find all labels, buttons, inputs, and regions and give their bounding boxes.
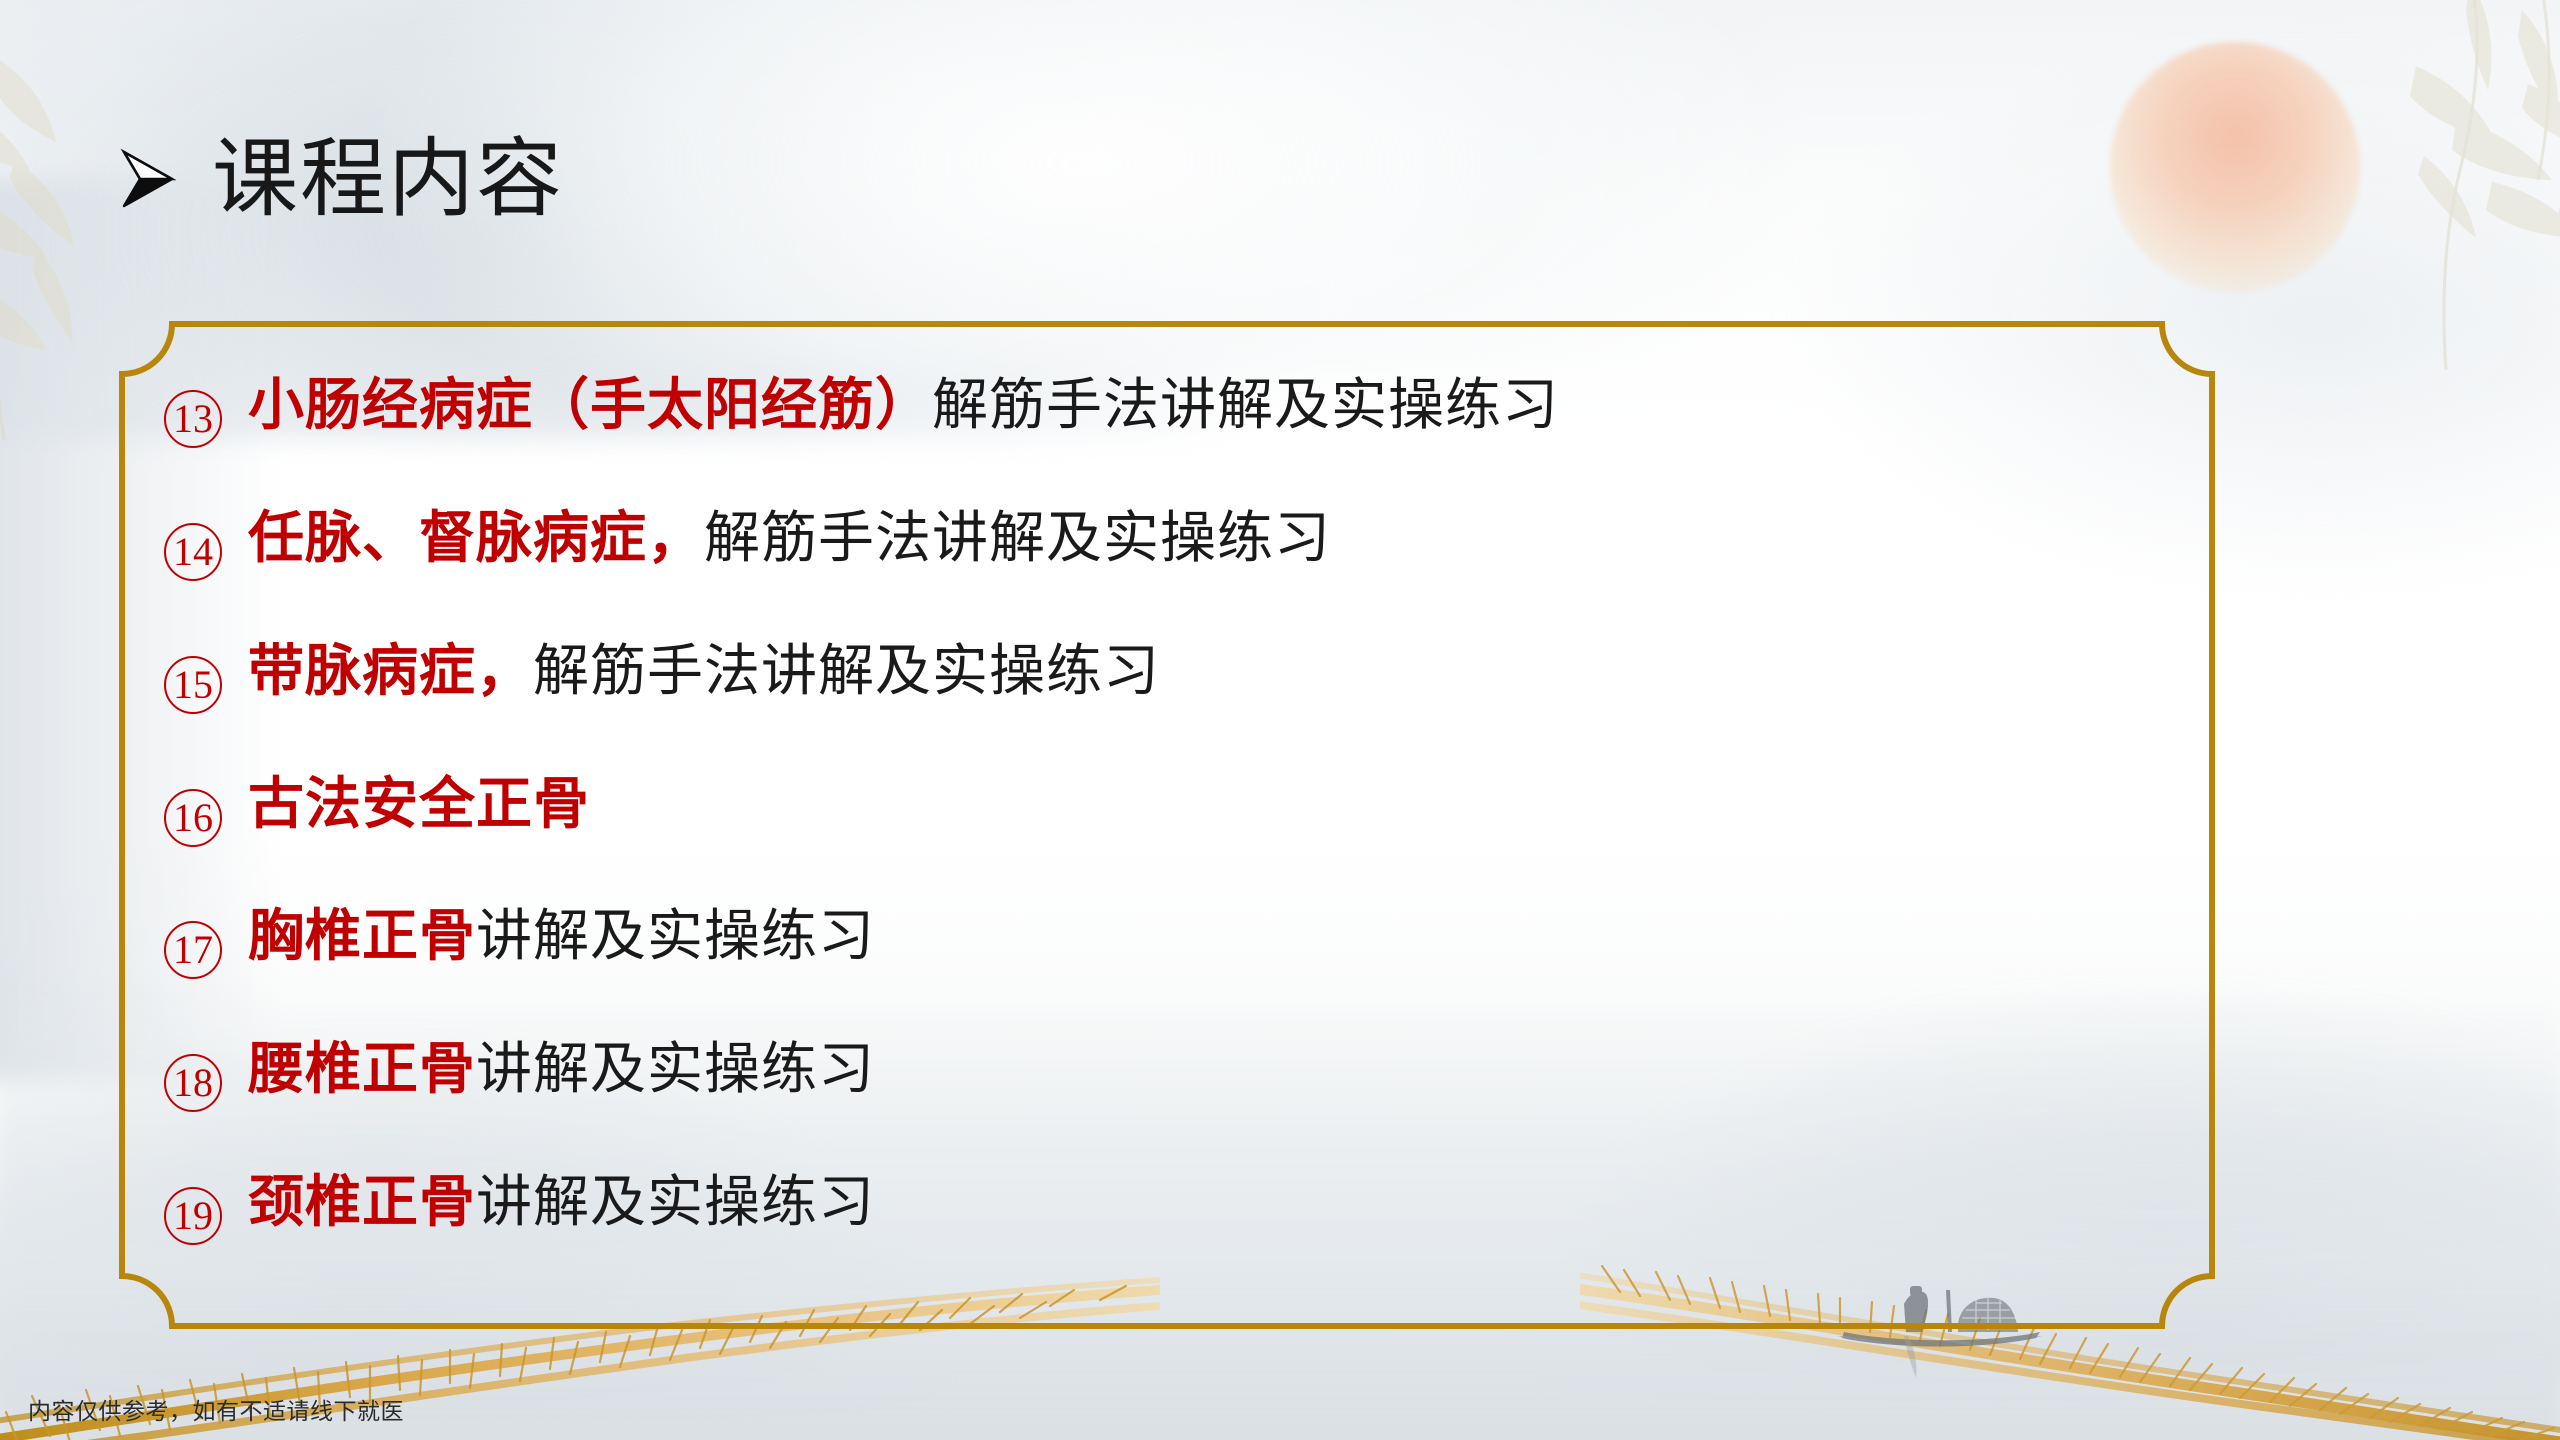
item-black-text: 讲解及实操练习 <box>476 891 875 972</box>
list-item[interactable]: 18 腰椎正骨 讲解及实操练习 <box>164 1024 2156 1157</box>
content-frame: 13 小肠经病症（手太阳经筋） 解筋手法讲解及实操练习 14 任脉、督脉病症， … <box>118 320 2216 1330</box>
item-number-badge: 16 <box>164 789 222 847</box>
page-title-row: 课程内容 <box>120 136 564 222</box>
item-red-text: 带脉病症， <box>248 626 533 707</box>
item-black-text: 解筋手法讲解及实操练习 <box>533 626 1160 707</box>
item-red-text: 古法安全正骨 <box>248 759 590 840</box>
list-item[interactable]: 13 小肠经病症（手太阳经筋） 解筋手法讲解及实操练习 <box>164 360 2156 493</box>
disclaimer-text: 内容仅供参考，如有不适请线下就医 <box>28 1392 404 1426</box>
item-black-text: 讲解及实操练习 <box>476 1024 875 1105</box>
item-number-badge: 19 <box>164 1187 222 1245</box>
item-red-text: 胸椎正骨 <box>248 891 476 972</box>
item-number-badge: 15 <box>164 656 222 714</box>
arrow-bullet-icon <box>120 148 176 210</box>
page-title: 课程内容 <box>212 136 564 222</box>
item-black-text: 讲解及实操练习 <box>476 1157 875 1238</box>
item-number-badge: 13 <box>164 390 222 448</box>
list-item[interactable]: 14 任脉、督脉病症， 解筋手法讲解及实操练习 <box>164 493 2156 626</box>
item-black-text: 解筋手法讲解及实操练习 <box>704 493 1331 574</box>
item-red-text: 腰椎正骨 <box>248 1024 476 1105</box>
item-black-text: 解筋手法讲解及实操练习 <box>932 360 1559 441</box>
course-list: 13 小肠经病症（手太阳经筋） 解筋手法讲解及实操练习 14 任脉、督脉病症， … <box>118 320 2216 1330</box>
ink-wash-cloud <box>380 0 1780 370</box>
slide-canvas: 课程内容 13 小肠经病症（手太阳经筋） 解筋手法讲解及实操练习 14 任脉、督… <box>0 0 2560 1440</box>
item-number-badge: 18 <box>164 1054 222 1112</box>
list-item[interactable]: 17 胸椎正骨 讲解及实操练习 <box>164 891 2156 1024</box>
item-red-text: 小肠经病症（手太阳经筋） <box>248 360 932 441</box>
item-number-badge: 14 <box>164 523 222 581</box>
sun-icon <box>2110 42 2360 292</box>
item-number-badge: 17 <box>164 921 222 979</box>
list-item[interactable]: 15 带脉病症， 解筋手法讲解及实操练习 <box>164 626 2156 759</box>
item-red-text: 任脉、督脉病症， <box>248 493 704 574</box>
list-item[interactable]: 16 古法安全正骨 <box>164 759 2156 892</box>
list-item[interactable]: 19 颈椎正骨 讲解及实操练习 <box>164 1157 2156 1290</box>
item-red-text: 颈椎正骨 <box>248 1157 476 1238</box>
